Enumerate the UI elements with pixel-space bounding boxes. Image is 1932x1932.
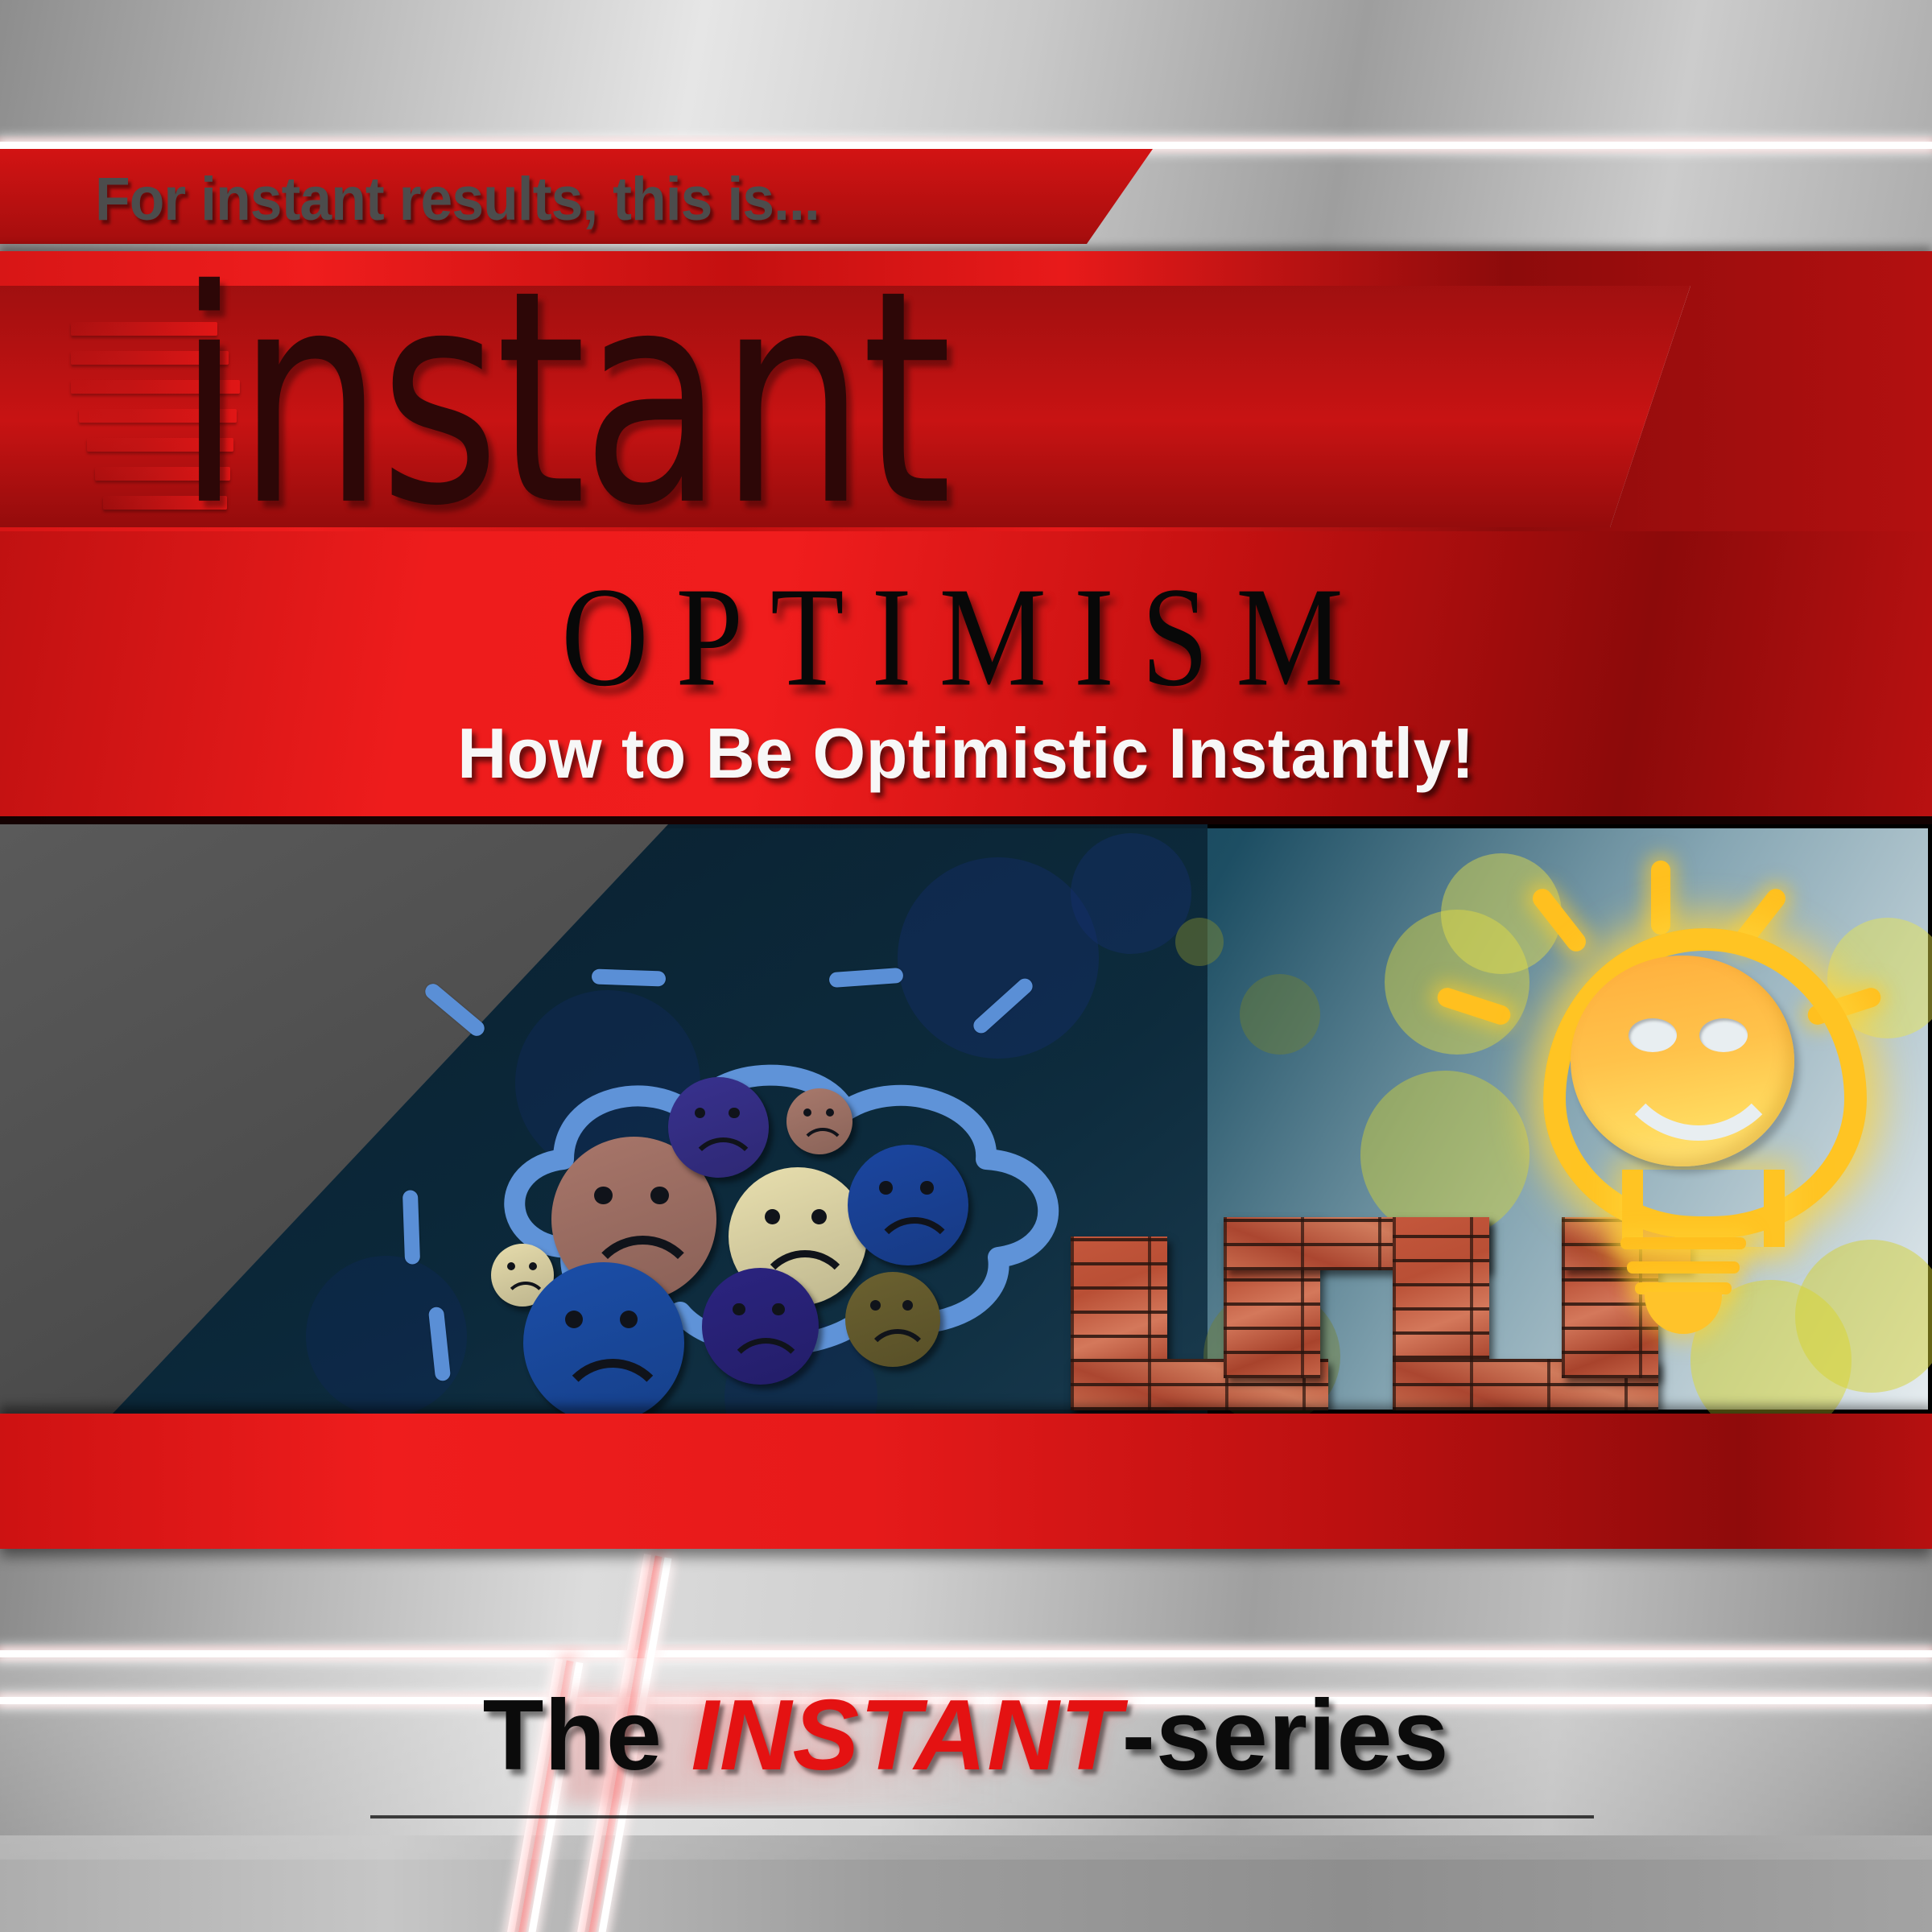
series-suffix: -series <box>1122 1680 1450 1791</box>
red-band-lower <box>0 1414 1932 1549</box>
sad-face-purple-top <box>668 1077 769 1178</box>
negative-thought-cloud <box>451 1046 1111 1401</box>
cloud-ray-4 <box>402 1190 420 1265</box>
series-prefix: The <box>483 1680 691 1791</box>
cloud-ray-1 <box>592 968 667 986</box>
sad-face-blue-large <box>523 1262 684 1423</box>
series-underline <box>370 1815 1594 1818</box>
series-emphasis: INSTANT <box>691 1680 1121 1791</box>
sad-face-indigo <box>702 1268 819 1385</box>
series-label: The INSTANT-series <box>0 1678 1932 1793</box>
sad-face-olive <box>845 1272 940 1367</box>
tagline-text: For instant results, this is... <box>95 160 1041 237</box>
brand-wordmark: instant <box>177 237 947 561</box>
idea-lightbulb-icon <box>1493 865 1872 1356</box>
book-cover: For instant results, this is... instant … <box>0 0 1932 1932</box>
sad-face-blue-right <box>848 1145 968 1265</box>
page-title: OPTIMISM <box>0 555 1932 719</box>
bokeh-circle-5 <box>1240 974 1320 1055</box>
sad-face-tan-small <box>786 1088 852 1154</box>
page-subtitle: How to Be Optimistic Instantly! <box>39 712 1893 795</box>
